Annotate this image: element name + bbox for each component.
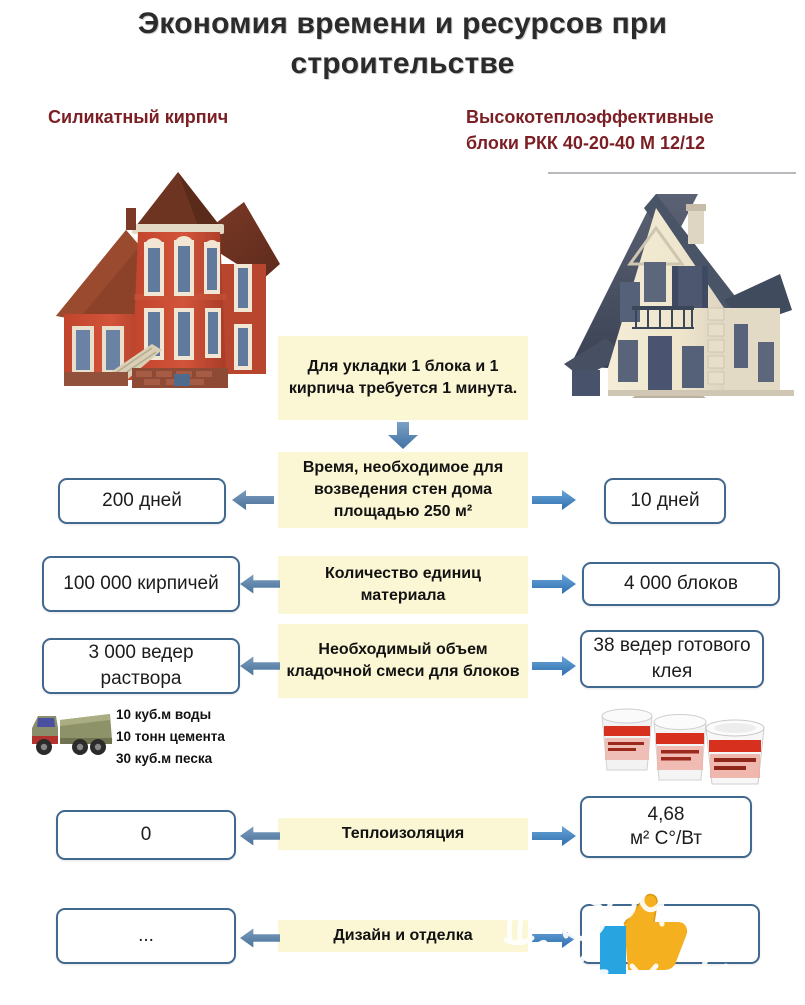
row-1-right-text: 10 дней [630,488,699,514]
intro-center-box-text: Для укладки 1 блока и 1 кирпича требуетс… [286,356,520,400]
row-2-center-box: Количество единиц материала [278,556,528,614]
row-5-left-arrow-icon [240,926,280,950]
row-2-right-text: 4 000 блоков [624,571,738,597]
truck-material-item: 10 тонн цемента [116,726,225,748]
row-5-left-text: ... [138,923,154,949]
truck-icon [28,702,114,763]
row-2-right-box: 4 000 блоков [582,562,780,606]
title-line-1: Экономия времени и ресурсов при [138,7,667,40]
row-3-right-text: 38 ведер готового клея [588,633,756,685]
row-3-left-arrow-icon [240,654,280,678]
column-header-right-line-1: Высокотеплоэффективные [466,107,714,127]
row-4-right-value: 4,68 [648,803,685,827]
row-5-right-arrow-icon [532,926,576,950]
row-1-center-text: Время, необходимое для возведения стен д… [286,457,520,523]
row-3-right-box: 38 ведер готового клея [580,630,764,688]
row-1-left-text: 200 дней [102,488,182,514]
row-2-left-arrow-icon [240,572,280,596]
row-1-right-box: 10 дней [604,478,726,524]
column-header-left: Силикатный кирпич [48,104,348,130]
page-title: Экономия времени и ресурсов при строител… [0,4,805,84]
title-line-2: строительстве [0,44,805,84]
row-4-right-box: 4,68 м² С°/Вт [580,796,752,858]
row-5-right-box [580,904,760,964]
row-4-left-box: 0 [56,810,236,860]
divider-line [548,172,796,174]
infographic-canvas: Экономия времени и ресурсов при строител… [0,0,805,1000]
truck-material-item: 10 куб.м воды [116,704,225,726]
row-2-right-arrow-icon [532,572,576,596]
column-header-right-line-2: блоки РКК 40-20-40 М 12/12 [466,133,705,153]
row-5-center-text: Дизайн и отделка [333,925,472,947]
row-1-left-arrow-icon [232,488,274,512]
truck-materials-list: 10 куб.м воды 10 тонн цемента 30 куб.м п… [116,704,225,770]
row-3-right-arrow-icon [532,654,576,678]
row-5-left-box: ... [56,908,236,964]
row-4-right-unit: м² С°/Вт [630,827,702,851]
row-3-center-box: Необходимый объем кладочной смеси для бл… [278,624,528,698]
glue-buckets-image [596,694,786,791]
block-house-image [548,178,798,398]
brick-house-image [48,168,298,393]
truck-material-item: 30 куб.м песка [116,748,225,770]
row-4-right-arrow-icon [532,824,576,848]
row-4-left-text: 0 [141,822,152,848]
row-4-center-text: Теплоизоляция [342,823,465,845]
row-2-left-text: 100 000 кирпичей [63,571,218,597]
intro-center-box: Для укладки 1 блока и 1 кирпича требуетс… [278,336,528,420]
row-3-left-box: 3 000 ведер раствора [42,638,240,694]
row-5-center-box: Дизайн и отделка [278,920,528,952]
row-1-center-box: Время, необходимое для возведения стен д… [278,452,528,528]
row-2-center-text: Количество единиц материала [286,563,520,607]
row-1-right-arrow-icon [532,488,576,512]
row-3-left-text: 3 000 ведер раствора [50,640,232,692]
row-3-center-text: Необходимый объем кладочной смеси для бл… [286,639,520,683]
column-header-right: Высокотеплоэффективные блоки РКК 40-20-4… [466,104,796,156]
down-arrow-icon [386,422,420,450]
row-4-center-box: Теплоизоляция [278,818,528,850]
row-2-left-box: 100 000 кирпичей [42,556,240,612]
row-4-left-arrow-icon [240,824,280,848]
row-1-left-box: 200 дней [58,478,226,524]
